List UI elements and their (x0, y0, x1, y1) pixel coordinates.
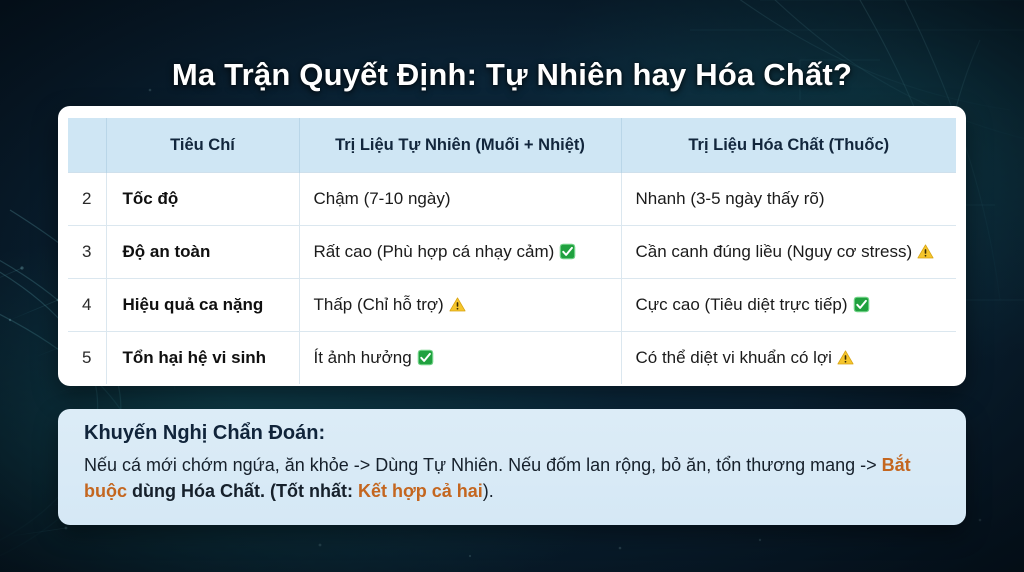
row-index: 4 (68, 279, 106, 332)
row-chemical-badge-slot (848, 295, 870, 314)
warning-yellow-icon (449, 296, 466, 313)
row-chemical-text: Có thể diệt vi khuẩn có lợi (636, 348, 832, 367)
table-body: 2 Tốc độ Chậm (7-10 ngày) Nhanh (3-5 ngà… (68, 173, 956, 385)
row-criteria: Tốc độ (106, 173, 299, 226)
row-natural-cell: Ít ảnh hưởng (299, 332, 621, 385)
row-natural-text: Thấp (Chỉ hỗ trợ) (314, 295, 444, 314)
recommendation-text-1: Nếu cá mới chớm ngứa, ăn khỏe -> Dùng Tự… (84, 455, 882, 475)
row-natural-text: Chậm (7-10 ngày) (314, 189, 451, 208)
column-header-index (68, 118, 106, 173)
recommendation-title: Khuyến Nghị Chẩn Đoán: (84, 422, 940, 445)
row-natural-text: Ít ảnh hưởng (314, 348, 412, 367)
recommendation-text-3: ). (483, 481, 494, 501)
check-green-icon (559, 243, 576, 260)
row-criteria: Hiệu quả ca nặng (106, 279, 299, 332)
row-chemical-badge-slot (832, 348, 854, 367)
row-chemical-text: Cực cao (Tiêu diệt trực tiếp) (636, 295, 848, 314)
row-index: 3 (68, 226, 106, 279)
row-natural-cell: Rất cao (Phù hợp cá nhạy cảm) (299, 226, 621, 279)
column-header-natural: Trị Liệu Tự Nhiên (Muối + Nhiệt) (299, 118, 621, 173)
row-natural-cell: Thấp (Chỉ hỗ trợ) (299, 279, 621, 332)
check-green-icon (417, 349, 434, 366)
recommendation-text-2: dùng Hóa Chất. (Tốt nhất: (127, 481, 358, 501)
decision-matrix-card: Tiêu Chí Trị Liệu Tự Nhiên (Muối + Nhiệt… (58, 106, 966, 386)
table-row: 4 Hiệu quả ca nặng Thấp (Chỉ hỗ trợ) Cực… (68, 279, 956, 332)
row-index: 2 (68, 173, 106, 226)
page-title: Ma Trận Quyết Định: Tự Nhiên hay Hóa Chấ… (0, 57, 1024, 93)
row-natural-badge-slot (444, 295, 466, 314)
slide-canvas: Ma Trận Quyết Định: Tự Nhiên hay Hóa Chấ… (0, 0, 1024, 572)
row-chemical-text: Cần canh đúng liều (Nguy cơ stress) (636, 242, 913, 261)
row-natural-text: Rất cao (Phù hợp cá nhạy cảm) (314, 242, 555, 261)
table-row: 3 Độ an toàn Rất cao (Phù hợp cá nhạy cả… (68, 226, 956, 279)
row-criteria: Độ an toàn (106, 226, 299, 279)
row-chemical-cell: Nhanh (3-5 ngày thấy rõ) (621, 173, 956, 226)
check-green-icon (853, 296, 870, 313)
row-chemical-cell: Cực cao (Tiêu diệt trực tiếp) (621, 279, 956, 332)
table-header: Tiêu Chí Trị Liệu Tự Nhiên (Muối + Nhiệt… (68, 118, 956, 173)
recommendation-highlight-combine: Kết hợp cả hai (358, 481, 483, 501)
table-row: 5 Tổn hại hệ vi sinh Ít ảnh hưởng Có thể… (68, 332, 956, 385)
row-chemical-cell: Có thể diệt vi khuẩn có lợi (621, 332, 956, 385)
row-criteria: Tổn hại hệ vi sinh (106, 332, 299, 385)
recommendation-card: Khuyến Nghị Chẩn Đoán: Nếu cá mới chớm n… (58, 409, 966, 525)
row-chemical-badge-slot (912, 242, 934, 261)
recommendation-body: Nếu cá mới chớm ngứa, ăn khỏe -> Dùng Tự… (84, 452, 940, 505)
warning-yellow-icon (837, 349, 854, 366)
row-natural-badge-slot (412, 348, 434, 367)
column-header-criteria: Tiêu Chí (106, 118, 299, 173)
table-header-row: Tiêu Chí Trị Liệu Tự Nhiên (Muối + Nhiệt… (68, 118, 956, 173)
row-natural-badge-slot (554, 242, 576, 261)
row-chemical-cell: Cần canh đúng liều (Nguy cơ stress) (621, 226, 956, 279)
row-index: 5 (68, 332, 106, 385)
row-chemical-text: Nhanh (3-5 ngày thấy rõ) (636, 189, 825, 208)
row-natural-cell: Chậm (7-10 ngày) (299, 173, 621, 226)
decision-matrix-table: Tiêu Chí Trị Liệu Tự Nhiên (Muối + Nhiệt… (68, 118, 956, 384)
warning-yellow-icon (917, 243, 934, 260)
column-header-chemical: Trị Liệu Hóa Chất (Thuốc) (621, 118, 956, 173)
table-row: 2 Tốc độ Chậm (7-10 ngày) Nhanh (3-5 ngà… (68, 173, 956, 226)
